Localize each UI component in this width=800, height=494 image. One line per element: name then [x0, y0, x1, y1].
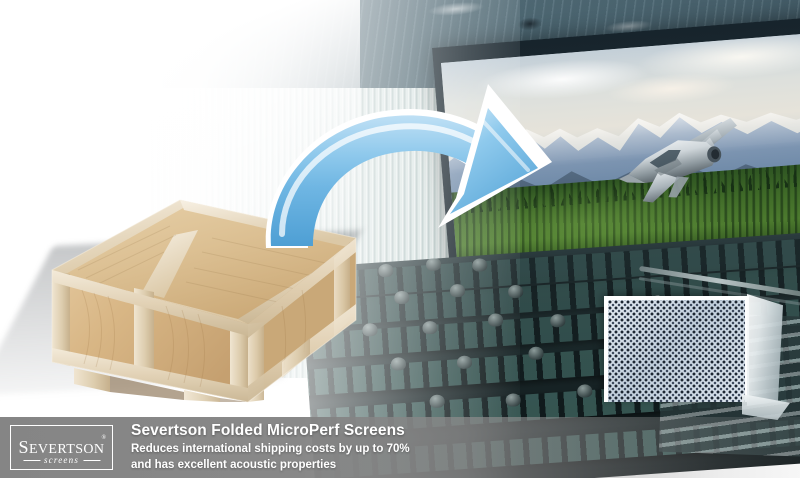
audience-head [577, 384, 593, 398]
banner-headline: Severtson Folded MicroPerf Screens [131, 421, 410, 440]
banner-subline-1: Reduces international shipping costs by … [131, 441, 410, 458]
fighter-jet-icon [612, 111, 750, 207]
registered-trademark-icon: ® [101, 435, 106, 441]
microperf-material-sample [604, 296, 749, 402]
audience-head [550, 314, 566, 328]
perforation-pattern [608, 300, 745, 402]
audience-head [528, 346, 544, 360]
logo-initial: S [19, 430, 29, 459]
logo-wordmark: Severtson [19, 432, 105, 458]
banner-copy: Severtson Folded MicroPerf Screens Reduc… [131, 421, 410, 474]
curved-arrow-icon [242, 84, 572, 252]
banner-subline-2: and has excellent acoustic properties [131, 457, 410, 474]
bottom-banner: Severtson ® screens Severtson Folded Mic… [0, 417, 800, 478]
severtson-logo: Severtson ® screens [10, 425, 113, 470]
swatch-curled-edge [747, 294, 783, 406]
promotional-banner-image: Severtson ® screens Severtson Folded Mic… [0, 0, 800, 494]
logo-tagline: screens [40, 455, 83, 465]
bottom-white-strip [0, 478, 800, 494]
